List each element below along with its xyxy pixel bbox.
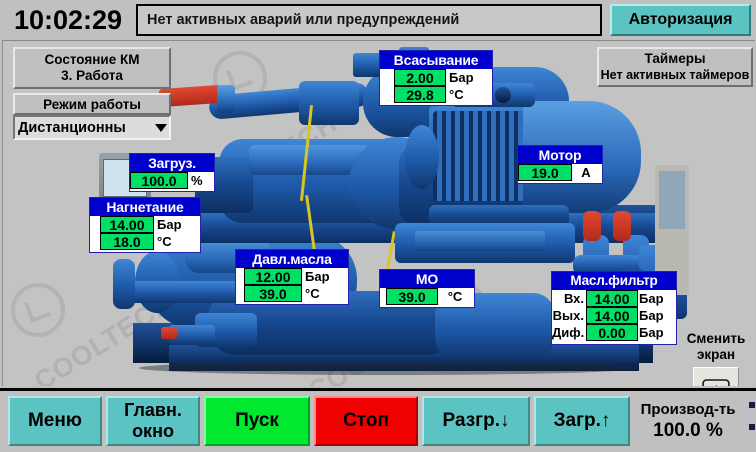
readout-load-title: Загруз. [130, 154, 214, 172]
timers-panel-title: Таймеры [599, 51, 751, 67]
readout-oil-pressure-unit: Бар [302, 268, 346, 285]
readout-discharge-temp-value: 18.0 [100, 233, 154, 250]
oil-filter-outlet-unit: Бар [638, 307, 674, 324]
start-button[interactable]: Пуск [204, 396, 310, 446]
stop-button[interactable]: Стоп [314, 396, 418, 446]
readout-motor-current-unit: A [572, 164, 600, 181]
loop-arrow-icon [701, 375, 731, 386]
main-window-button[interactable]: Главн. окно [106, 396, 200, 446]
readout-discharge-title: Нагнетание [90, 198, 200, 216]
menu-button[interactable]: Меню [8, 396, 102, 446]
readout-load-value: 100.0 [130, 172, 188, 189]
readout-oil-temp-value: 39.0 [244, 285, 302, 302]
oil-filter-inlet-label: Вх. [552, 290, 586, 307]
readout-mo-value: 39.0 [386, 288, 438, 305]
oil-filter-outlet-label: Вых. [552, 307, 586, 324]
readout-load-unit: % [188, 172, 212, 189]
readout-motor-title: Мотор [518, 146, 602, 164]
readout-suction-row: 2.00 Бар [380, 69, 492, 86]
main-mimic-area: COOLTECH COOLTECH COOLTECH COOLTECH [2, 40, 755, 386]
chevron-down-icon[interactable] [155, 124, 167, 132]
readout-oil-filter-row: Диф. 0.00 Бар [552, 324, 676, 341]
readout-discharge-temp-unit: °C [154, 233, 198, 250]
readout-mo-title: МО [380, 270, 474, 288]
readout-load[interactable]: Загруз. 100.0 % [129, 153, 215, 192]
mode-panel-title: Режим работы [15, 97, 169, 113]
bottom-toolbar: Меню Главн. окно Пуск Стоп Разгр.↓ Загр.… [0, 388, 756, 452]
capacity-title: Производ-ть [641, 400, 736, 419]
readout-mo-row: 39.0 °C [380, 288, 474, 305]
status-panel-title: Состояние КМ [15, 52, 169, 68]
toolbar-divider [0, 388, 756, 391]
readout-discharge-pressure-unit: Бар [154, 216, 198, 233]
readout-discharge[interactable]: Нагнетание 14.00 Бар 18.0 °C [89, 197, 201, 253]
readout-discharge-row: 18.0 °C [90, 233, 200, 250]
readout-motor[interactable]: Мотор 19.0 A [517, 145, 603, 184]
readout-discharge-pressure-value: 14.00 [100, 216, 154, 233]
readout-oil-filter-row: Вых. 14.00 Бар [552, 307, 676, 324]
unload-button[interactable]: Разгр.↓ [422, 396, 530, 446]
compressor-status-panel: Состояние КМ 3. Работа [13, 47, 171, 89]
readout-motor-current-value: 19.0 [518, 164, 572, 181]
readout-oil-filter-row: Вх. 14.00 Бар [552, 290, 676, 307]
timers-panel-value: Нет активных таймеров [599, 67, 751, 83]
scroll-indicator[interactable] [749, 402, 755, 440]
timers-panel: Таймеры Нет активных таймеров [597, 47, 753, 87]
oil-filter-inlet-unit: Бар [638, 290, 674, 307]
operating-mode-panel: Режим работы [13, 93, 171, 115]
readout-load-row: 100.0 % [130, 172, 214, 189]
main-window-button-line2: окно [132, 421, 174, 442]
readout-suction-temp-value: 29.8 [394, 86, 446, 103]
change-screen-control[interactable]: Сменить экран [679, 331, 753, 386]
readout-oil-filter-title: Масл.фильтр [552, 272, 676, 290]
authorization-button[interactable]: Авторизация [610, 4, 751, 36]
readout-oil-pressure[interactable]: Давл.масла 12.00 Бар 39.0 °C [235, 249, 349, 305]
readout-suction-pressure-value: 2.00 [394, 69, 446, 86]
readout-suction-row: 29.8 °C [380, 86, 492, 103]
mode-select-value: Дистанционны [18, 120, 126, 136]
load-button[interactable]: Загр.↑ [534, 396, 630, 446]
capacity-value: 100.0 % [653, 419, 723, 442]
readout-oil-pressure-row: 12.00 Бар [236, 268, 348, 285]
oil-filter-diff-unit: Бар [638, 324, 674, 341]
readout-oil-filter[interactable]: Масл.фильтр Вх. 14.00 Бар Вых. 14.00 Бар… [551, 271, 677, 345]
readout-mo-unit: °C [438, 288, 472, 305]
oil-filter-inlet-value: 14.00 [586, 290, 638, 307]
change-screen-button[interactable] [693, 367, 739, 386]
scroll-dot [749, 402, 755, 408]
readout-motor-row: 19.0 A [518, 164, 602, 181]
alarm-status-bar[interactable]: Нет активных аварий или предупреждений [136, 4, 602, 36]
change-screen-line1: Сменить [679, 331, 753, 347]
operating-mode-select[interactable]: Дистанционны [13, 115, 171, 140]
change-screen-line2: экран [679, 347, 753, 363]
readout-discharge-row: 14.00 Бар [90, 216, 200, 233]
readout-oil-pressure-row: 39.0 °C [236, 285, 348, 302]
readout-suction-temp-unit: °C [446, 86, 490, 103]
readout-mo[interactable]: МО 39.0 °C [379, 269, 475, 308]
readout-suction-pressure-unit: Бар [446, 69, 490, 86]
readout-oil-temp-unit: °C [302, 285, 346, 302]
status-panel-value: 3. Работа [15, 68, 169, 84]
readout-suction-title: Всасывание [380, 51, 492, 69]
clock-display: 10:02:29 [6, 3, 130, 37]
oil-filter-diff-value: 0.00 [586, 324, 638, 341]
readout-suction[interactable]: Всасывание 2.00 Бар 29.8 °C [379, 50, 493, 106]
readout-oil-pressure-title: Давл.масла [236, 250, 348, 268]
capacity-indicator: Производ-ть 100.0 % [632, 396, 744, 446]
readout-oil-pressure-value: 12.00 [244, 268, 302, 285]
oil-filter-diff-label: Диф. [552, 324, 586, 341]
scroll-dot [749, 424, 755, 430]
main-window-button-line1: Главн. [124, 400, 182, 421]
hmi-screen: 10:02:29 Нет активных аварий или предупр… [0, 0, 756, 452]
oil-filter-outlet-value: 14.00 [586, 307, 638, 324]
watermark-logo-icon [11, 283, 65, 337]
top-bar: 10:02:29 Нет активных аварий или предупр… [0, 0, 756, 40]
